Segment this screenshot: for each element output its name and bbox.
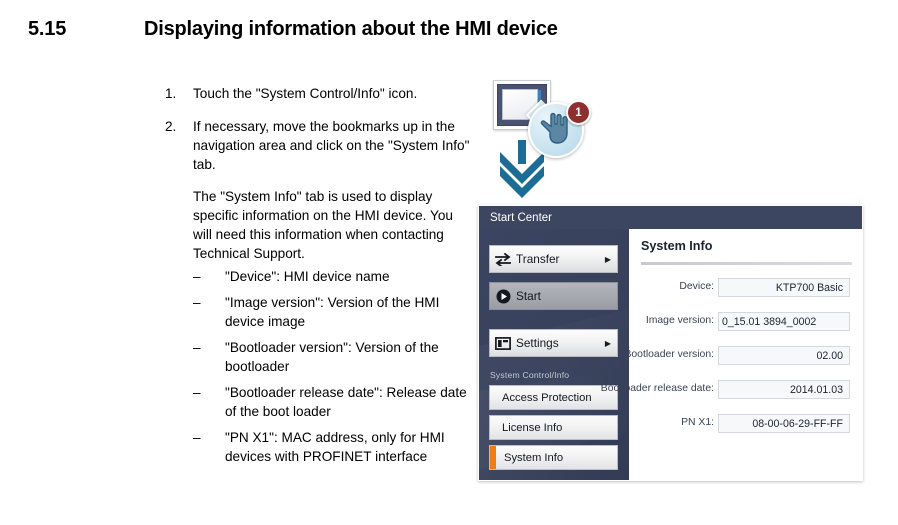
dash-marker: – xyxy=(193,338,201,357)
field-label: Image version: xyxy=(646,315,714,326)
field-value-bootloader-version: 02.00 xyxy=(718,346,850,365)
callout-badge-1: 1 xyxy=(566,100,591,125)
list-item: – "PN X1": MAC address, only for HMI dev… xyxy=(193,428,470,466)
field-row: Device: KTP700 Basic xyxy=(629,278,862,298)
nav-button-settings[interactable]: Settings ▶ xyxy=(489,329,618,357)
sidebar-item-license-info[interactable]: License Info xyxy=(489,415,618,440)
field-row: Bootloader version: 02.00 xyxy=(629,346,862,366)
play-circle-icon xyxy=(490,289,516,304)
step-text: If necessary, move the bookmarks up in t… xyxy=(193,119,469,172)
nav-button-start[interactable]: Start xyxy=(489,282,618,310)
window-titlebar: Start Center xyxy=(479,206,862,229)
navigation-sidebar: Transfer ▶ Start xyxy=(479,229,629,480)
field-row: Image version: 0_15.01 3894_0002 xyxy=(629,312,862,332)
section-title: Displaying information about the HMI dev… xyxy=(144,18,558,41)
nav-button-transfer[interactable]: Transfer ▶ xyxy=(489,245,618,273)
list-item: – "Device": HMI device name xyxy=(193,267,470,286)
nav-button-label: Settings xyxy=(516,336,599,350)
pane-divider xyxy=(641,262,852,265)
dash-marker: – xyxy=(193,267,201,286)
pane-title: System Info xyxy=(641,239,712,253)
step-paragraph: The "System Info" tab is used to display… xyxy=(193,187,470,263)
list-item: 2. If necessary, move the bookmarks up i… xyxy=(165,117,470,466)
chevron-right-icon: ▶ xyxy=(599,339,617,348)
field-label: Device: xyxy=(679,281,714,292)
instruction-list: 1. Touch the "System Control/Info" icon.… xyxy=(165,84,470,480)
sidebar-item-label: License Info xyxy=(502,422,562,434)
field-label: Bootloader version: xyxy=(624,349,714,360)
section-number: 5.15 xyxy=(28,18,66,41)
list-item: – "Bootloader release date": Release dat… xyxy=(193,383,470,421)
field-label: Bootloader release date: xyxy=(601,383,714,394)
field-value-bootloader-release-date: 2014.01.03 xyxy=(718,380,850,399)
start-center-window: Start Center Transfer ▶ xyxy=(478,205,863,481)
list-item: – "Bootloader version": Version of the b… xyxy=(193,338,470,376)
sidebar-item-label: Access Protection xyxy=(502,392,592,404)
sidebar-item-system-info[interactable]: System Info xyxy=(489,445,618,470)
bullet-text: "Bootloader release date": Release date … xyxy=(225,385,467,419)
transfer-arrows-icon xyxy=(490,253,516,266)
dash-marker: – xyxy=(193,293,201,312)
settings-panel-icon xyxy=(490,337,516,350)
bullet-text: "PN X1": MAC address, only for HMI devic… xyxy=(225,430,445,464)
bullet-text: "Device": HMI device name xyxy=(225,269,390,284)
touch-callout-1: 1 xyxy=(528,102,586,160)
step-text: Touch the "System Control/Info" icon. xyxy=(193,86,417,101)
bullet-list: – "Device": HMI device name – "Image ver… xyxy=(193,267,470,466)
list-marker: 1. xyxy=(165,84,185,103)
bullet-text: "Image version": Version of the HMI devi… xyxy=(225,295,439,329)
system-info-pane: System Info Device: KTP700 Basic Image v… xyxy=(629,229,862,480)
list-item: 1. Touch the "System Control/Info" icon. xyxy=(165,84,470,103)
sidebar-section-label: System Control/Info xyxy=(490,370,569,380)
sidebar-item-access-protection[interactable]: Access Protection xyxy=(489,385,618,410)
list-marker: 2. xyxy=(165,117,185,136)
bullet-text: "Bootloader version": Version of the boo… xyxy=(225,340,439,374)
nav-button-label: Transfer xyxy=(516,252,599,266)
document-page: 5.15 Displaying information about the HM… xyxy=(0,0,898,525)
dash-marker: – xyxy=(193,428,201,447)
field-value-device: KTP700 Basic xyxy=(718,278,850,297)
field-value-image-version: 0_15.01 3894_0002 xyxy=(718,312,850,331)
chevron-right-icon: ▶ xyxy=(599,255,617,264)
sidebar-item-label: System Info xyxy=(504,452,563,464)
field-value-pn-x1: 08-00-06-29-FF-FF xyxy=(718,414,850,433)
window-title: Start Center xyxy=(490,212,552,224)
hmi-figure: 1 2 Start Center xyxy=(470,68,870,488)
list-item: – "Image version": Version of the HMI de… xyxy=(193,293,470,331)
field-label: PN X1: xyxy=(681,417,714,428)
dash-marker: – xyxy=(193,383,201,402)
page-title: 5.15 Displaying information about the HM… xyxy=(0,18,898,52)
nav-button-label: Start xyxy=(516,289,599,303)
field-row: PN X1: 08-00-06-29-FF-FF xyxy=(629,414,862,434)
field-row: Bootloader release date: 2014.01.03 xyxy=(629,380,862,400)
